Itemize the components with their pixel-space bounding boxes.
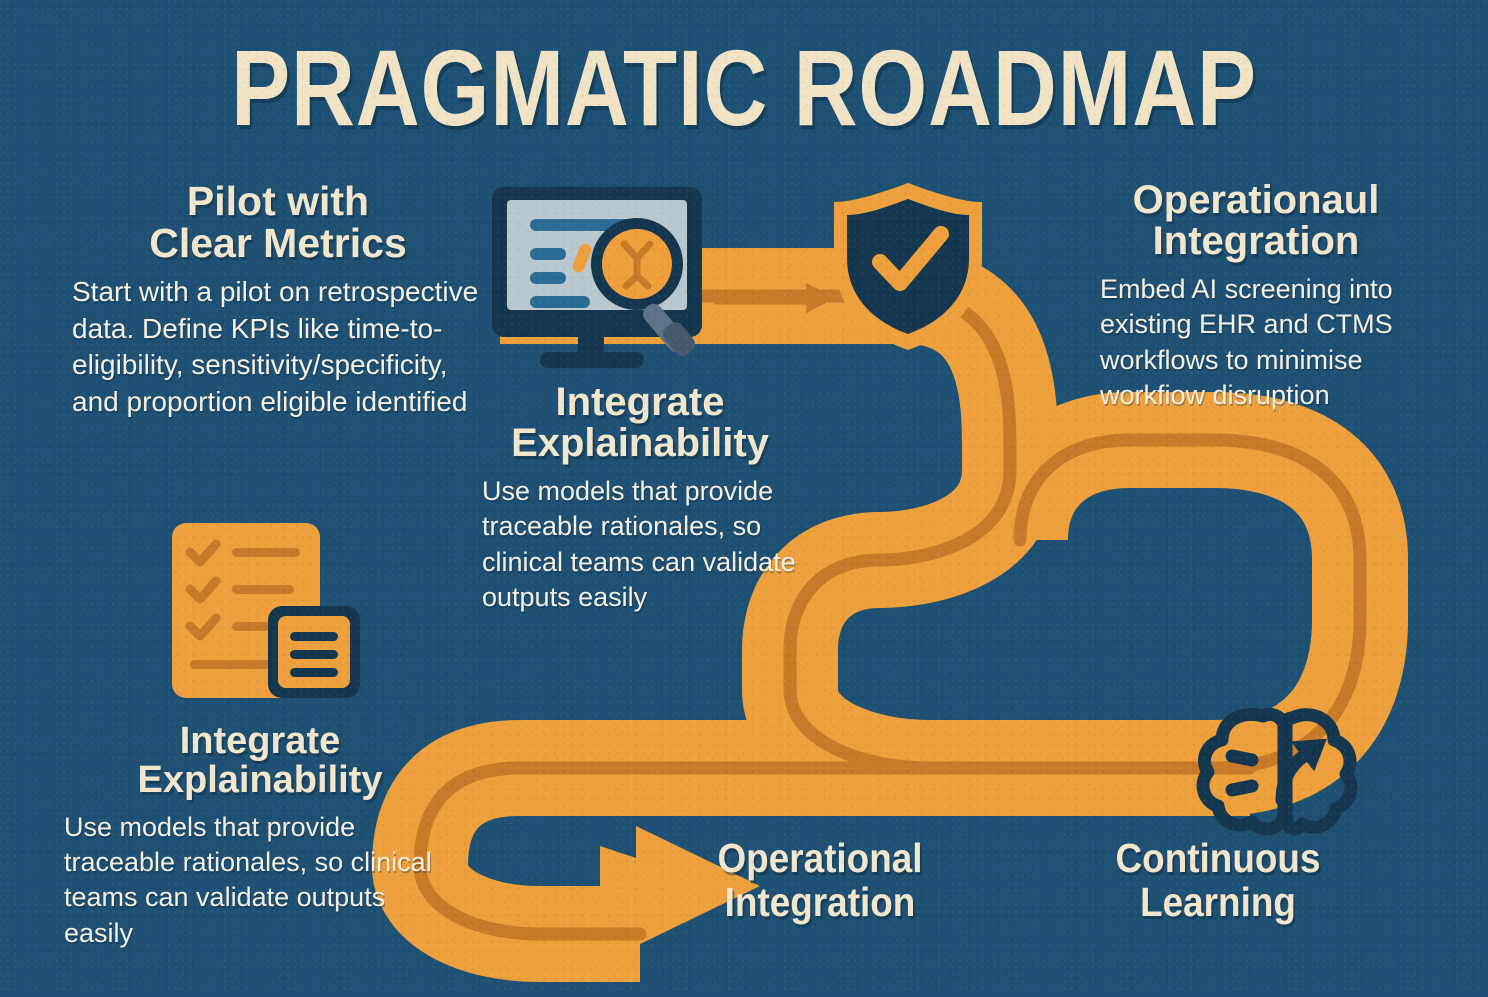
block-heading: Pilot with Clear Metrics: [72, 180, 484, 264]
heading-line: Explainability: [64, 761, 456, 800]
heading-line: Pilot with: [72, 180, 484, 222]
block-heading: Operationaul Integration: [1100, 180, 1412, 262]
heading-line: Integrate: [64, 722, 456, 761]
block-body: Start with a pilot on retrospective data…: [72, 274, 484, 420]
heading-line: Integration: [1100, 221, 1412, 262]
heading-line: Operationaul: [1100, 180, 1412, 221]
block-body: Use models that provide traceable ration…: [64, 810, 456, 950]
page-title: PRAGMATIC ROADMAP: [134, 34, 1354, 142]
block-body: Use models that provide traceable ration…: [482, 474, 798, 614]
infographic-canvas: PRAGMATIC ROADMAP Pilot with Clear Metri…: [0, 0, 1488, 992]
label-line: Learning: [1083, 880, 1353, 924]
heading-line: Integrate: [482, 382, 798, 423]
block-integrate-explainability: Integrate Explainability Use models that…: [482, 382, 798, 615]
block-body: Embed AI screening into existing EHR and…: [1100, 272, 1412, 412]
label-line: Integration: [676, 880, 964, 924]
label-operational-integration: Operational Integration: [676, 836, 964, 925]
heading-line: Clear Metrics: [72, 222, 484, 264]
block-integrate-explainability-duplicate: Integrate Explainability Use models that…: [64, 722, 456, 951]
block-operationaul-integration: Operationaul Integration Embed AI screen…: [1100, 180, 1412, 413]
label-continuous-learning: Continuous Learning: [1083, 836, 1353, 925]
label-line: Operational: [676, 836, 964, 880]
label-line: Continuous: [1083, 836, 1353, 880]
block-heading: Integrate Explainability: [64, 722, 456, 800]
heading-line: Explainability: [482, 423, 798, 464]
block-heading: Integrate Explainability: [482, 382, 798, 464]
text-layer: PRAGMATIC ROADMAP Pilot with Clear Metri…: [0, 0, 1488, 992]
block-pilot-with-clear-metrics: Pilot with Clear Metrics Start with a pi…: [72, 180, 484, 420]
